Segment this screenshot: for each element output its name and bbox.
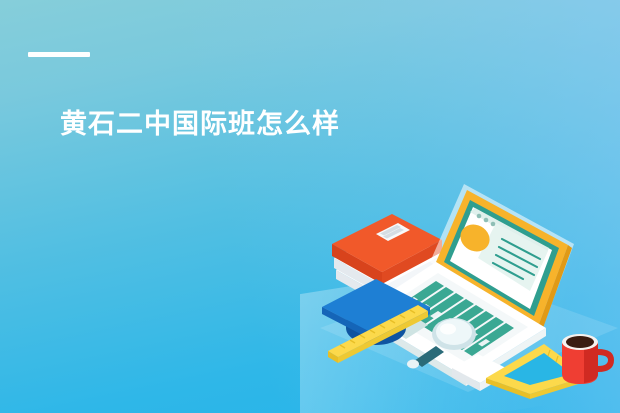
magnifier-handle-tip: [407, 360, 419, 369]
mug-handle: [598, 349, 614, 372]
isometric-study-desk-illustration: [318, 178, 620, 413]
coffee-mug: [562, 334, 614, 384]
promo-banner: 黄石二中国际班怎么样: [0, 0, 620, 413]
mug-coffee: [566, 336, 594, 348]
page-title: 黄石二中国际班怎么样: [60, 104, 340, 144]
title-underline-divider: [28, 52, 90, 57]
